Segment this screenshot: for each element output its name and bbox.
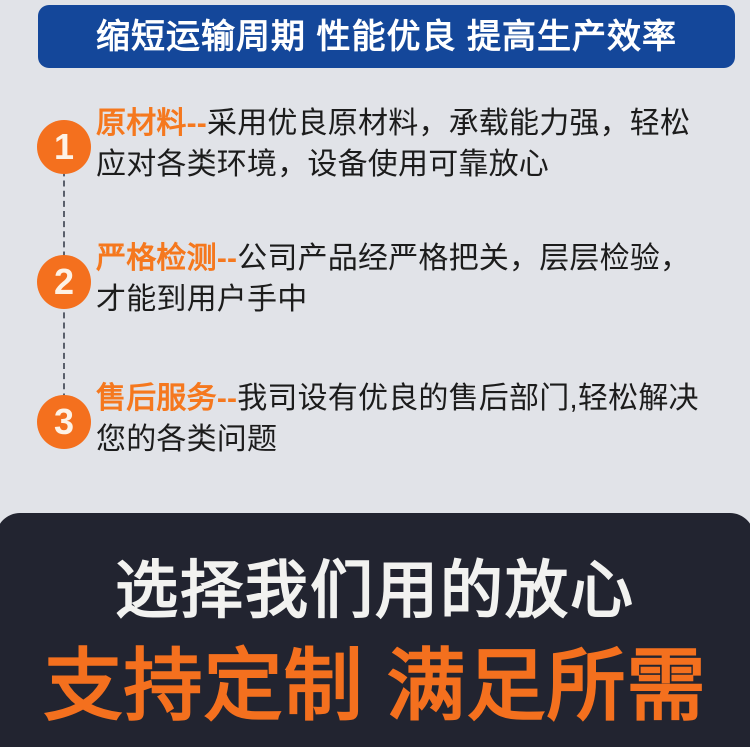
feature-title: 原材料	[96, 107, 187, 140]
list-item: 2 严格检测--公司产品经严格把关，层层检验，才能到用户手中	[0, 239, 750, 321]
feature-text: 原材料--采用优良原材料，承载能力强，轻松应对各类环境，设备使用可靠放心	[96, 104, 718, 186]
footer-panel: 选择我们用的放心 支持定制 满足所需	[0, 513, 750, 747]
step-number-badge: 3	[37, 395, 91, 449]
list-item: 3 售后服务--我司设有优良的售后部门,轻松解决您的各类问题	[0, 379, 750, 461]
feature-title: 严格检测	[96, 242, 217, 275]
feature-list: 1 原材料--采用优良原材料，承载能力强，轻松应对各类环境，设备使用可靠放心 2…	[0, 96, 750, 496]
step-number-badge: 2	[37, 255, 91, 309]
footer-subline: 支持定制 满足所需	[0, 646, 750, 725]
feature-title: 售后服务	[96, 382, 217, 415]
step-number-badge: 1	[37, 120, 91, 174]
list-item: 1 原材料--采用优良原材料，承载能力强，轻松应对各类环境，设备使用可靠放心	[0, 104, 750, 186]
feature-separator: --	[187, 107, 207, 140]
header-banner: 缩短运输周期 性能优良 提高生产效率	[38, 5, 735, 68]
footer-headline: 选择我们用的放心	[0, 560, 750, 623]
feature-separator: --	[217, 242, 237, 275]
feature-text: 严格检测--公司产品经严格把关，层层检验，才能到用户手中	[96, 239, 718, 321]
feature-separator: --	[217, 382, 237, 415]
header-banner-title: 缩短运输周期 性能优良 提高生产效率	[96, 20, 677, 54]
feature-text: 售后服务--我司设有优良的售后部门,轻松解决您的各类问题	[96, 379, 718, 461]
